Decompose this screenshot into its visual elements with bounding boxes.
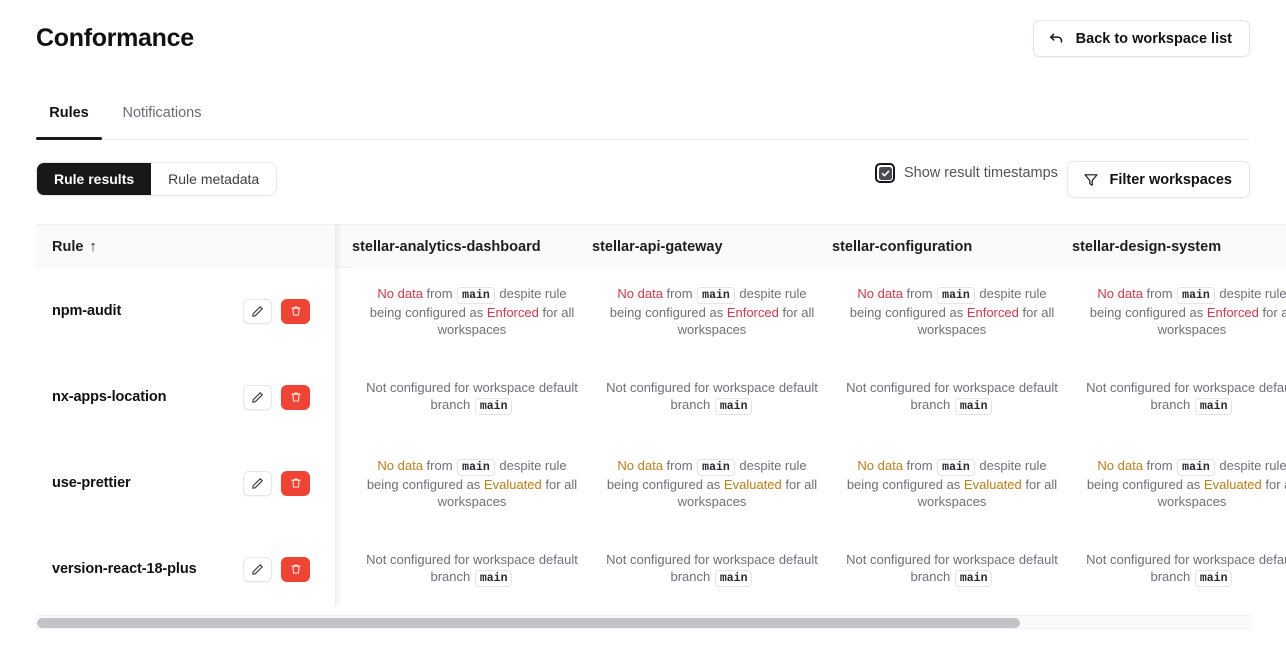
page-title: Conformance	[36, 24, 194, 53]
result-status-segment: Enforced	[487, 305, 539, 320]
branch-code-chip: main	[1195, 570, 1233, 587]
row-actions	[243, 299, 310, 324]
result-text: Not configured for workspace default bra…	[600, 551, 824, 587]
delete-rule-button[interactable]	[281, 471, 310, 496]
result-text-segment: Not configured for workspace default bra…	[606, 380, 818, 412]
pencil-icon	[251, 477, 264, 490]
filter-workspaces-label: Filter workspaces	[1110, 172, 1233, 188]
tab-notifications-label: Notifications	[123, 105, 202, 121]
filter-workspaces-button[interactable]: Filter workspaces	[1067, 161, 1251, 198]
back-button-label: Back to workspace list	[1076, 31, 1232, 47]
result-cell: No data from main despite rule being con…	[1072, 268, 1286, 354]
branch-code-chip: main	[697, 287, 735, 304]
show-result-timestamps-checkbox[interactable]: Show result timestamps	[875, 163, 1058, 183]
branch-code-chip: main	[955, 570, 993, 587]
back-to-workspace-list-button[interactable]: Back to workspace list	[1033, 20, 1250, 57]
result-status-segment: No data	[617, 286, 663, 301]
trash-icon	[290, 477, 302, 489]
trash-icon	[290, 563, 302, 575]
branch-code-chip: main	[1195, 398, 1233, 415]
result-text-segment: from	[423, 458, 456, 473]
sort-ascending-icon: ↑	[89, 239, 96, 255]
segment-rule-metadata-label: Rule metadata	[168, 171, 259, 187]
table-row: version-react-18-plusNot configured for …	[36, 526, 1286, 606]
edit-rule-button[interactable]	[243, 385, 272, 410]
delete-rule-button[interactable]	[281, 299, 310, 324]
conformance-page: Conformance Back to workspace list Rules…	[0, 0, 1286, 667]
result-text-segment: from	[423, 286, 456, 301]
branch-code-chip: main	[475, 570, 513, 587]
column-header-workspace-1[interactable]: stellar-api-gateway	[592, 225, 832, 269]
result-text-segment: Not configured for workspace default bra…	[366, 380, 578, 412]
result-status-segment: Enforced	[727, 305, 779, 320]
segment-rule-results[interactable]: Rule results	[37, 163, 151, 195]
result-status-segment: Evaluated	[724, 477, 782, 492]
result-status-segment: No data	[857, 286, 903, 301]
result-cell: No data from main despite rule being con…	[832, 268, 1072, 354]
rule-name: version-react-18-plus	[52, 561, 197, 577]
view-mode-segmented-control: Rule results Rule metadata	[36, 162, 277, 196]
result-text-segment: from	[663, 458, 696, 473]
result-text: No data from main despite rule being con…	[600, 285, 824, 338]
column-header-workspace-2[interactable]: stellar-configuration	[832, 225, 1072, 269]
column-header-rule-label: Rule	[52, 239, 83, 255]
branch-code-chip: main	[697, 459, 735, 476]
result-text: Not configured for workspace default bra…	[360, 379, 584, 415]
result-status-segment: No data	[377, 458, 423, 473]
tab-rules-label: Rules	[49, 105, 89, 121]
result-text-segment: from	[1143, 286, 1176, 301]
checkmark-icon	[881, 169, 890, 178]
column-header-rule[interactable]: Rule ↑	[36, 225, 335, 269]
tab-notifications[interactable]: Notifications	[110, 104, 214, 140]
edit-rule-button[interactable]	[243, 471, 272, 496]
result-text-segment: Not configured for workspace default bra…	[606, 552, 818, 584]
result-text-segment: Not configured for workspace default bra…	[846, 380, 1058, 412]
result-cell: Not configured for workspace default bra…	[1072, 354, 1286, 440]
result-cell: Not configured for workspace default bra…	[352, 526, 592, 606]
row-actions	[243, 471, 310, 496]
result-status-segment: Evaluated	[484, 477, 542, 492]
result-text-segment: from	[663, 286, 696, 301]
result-text-segment: Not configured for workspace default bra…	[1086, 380, 1286, 412]
result-cell: Not configured for workspace default bra…	[592, 354, 832, 440]
row-actions	[243, 557, 310, 582]
result-cell: No data from main despite rule being con…	[1072, 440, 1286, 526]
result-text: Not configured for workspace default bra…	[1080, 379, 1286, 415]
rule-name: npm-audit	[52, 303, 121, 319]
rule-cell: version-react-18-plus	[36, 526, 335, 606]
result-cell: Not configured for workspace default bra…	[1072, 526, 1286, 606]
result-cell: No data from main despite rule being con…	[352, 440, 592, 526]
branch-code-chip: main	[715, 398, 753, 415]
segment-rule-metadata[interactable]: Rule metadata	[151, 163, 276, 195]
rule-cell: use-prettier	[36, 440, 335, 526]
result-text: Not configured for workspace default bra…	[1080, 551, 1286, 587]
funnel-icon	[1083, 172, 1099, 188]
horizontal-scrollbar[interactable]	[36, 615, 1252, 629]
horizontal-scrollbar-thumb[interactable]	[37, 618, 1020, 628]
result-status-segment: No data	[377, 286, 423, 301]
result-cell: No data from main despite rule being con…	[592, 440, 832, 526]
result-text: Not configured for workspace default bra…	[360, 551, 584, 587]
column-header-workspace-0[interactable]: stellar-analytics-dashboard	[352, 225, 592, 269]
rule-name: nx-apps-location	[52, 389, 166, 405]
trash-icon	[290, 305, 302, 317]
table-toolbar: Rule results Rule metadata Show result t…	[0, 162, 1286, 198]
trash-icon	[290, 391, 302, 403]
tab-bar: Rules Notifications	[0, 104, 1286, 140]
branch-code-chip: main	[457, 459, 495, 476]
branch-code-chip: main	[937, 459, 975, 476]
tab-rules[interactable]: Rules	[36, 104, 102, 140]
result-text: No data from main despite rule being con…	[1080, 285, 1286, 338]
result-text: Not configured for workspace default bra…	[840, 379, 1064, 415]
branch-code-chip: main	[937, 287, 975, 304]
edit-rule-button[interactable]	[243, 299, 272, 324]
branch-code-chip: main	[715, 570, 753, 587]
branch-code-chip: main	[1177, 287, 1215, 304]
result-text-segment: Not configured for workspace default bra…	[366, 552, 578, 584]
result-text-segment: from	[1143, 458, 1176, 473]
checkbox-focus-ring	[875, 163, 895, 183]
result-cell: No data from main despite rule being con…	[592, 268, 832, 354]
rule-cell: nx-apps-location	[36, 354, 335, 440]
result-text-segment: Not configured for workspace default bra…	[846, 552, 1058, 584]
result-text: No data from main despite rule being con…	[1080, 457, 1286, 510]
result-text-segment: from	[903, 458, 936, 473]
result-cell: No data from main despite rule being con…	[352, 268, 592, 354]
pencil-icon	[251, 305, 264, 318]
result-text: Not configured for workspace default bra…	[600, 379, 824, 415]
table-row: use-prettierNo data from main despite ru…	[36, 440, 1286, 526]
result-cell: Not configured for workspace default bra…	[352, 354, 592, 440]
result-status-segment: No data	[1097, 286, 1143, 301]
row-actions	[243, 385, 310, 410]
rule-cell: npm-audit	[36, 268, 335, 354]
back-arrow-icon	[1048, 30, 1065, 47]
show-result-timestamps-label: Show result timestamps	[904, 165, 1058, 181]
result-text: No data from main despite rule being con…	[360, 285, 584, 338]
column-header-workspace-3[interactable]: stellar-design-system	[1072, 225, 1286, 269]
pencil-icon	[251, 391, 264, 404]
result-text: No data from main despite rule being con…	[840, 285, 1064, 338]
sticky-column-shadow	[336, 224, 342, 606]
result-status-segment: Evaluated	[964, 477, 1022, 492]
table-row: nx-apps-locationNot configured for works…	[36, 354, 1286, 440]
rule-name: use-prettier	[52, 475, 131, 491]
branch-code-chip: main	[955, 398, 993, 415]
result-text-segment: Not configured for workspace default bra…	[1086, 552, 1286, 584]
result-cell: Not configured for workspace default bra…	[832, 354, 1072, 440]
branch-code-chip: main	[1177, 459, 1215, 476]
result-cell: No data from main despite rule being con…	[832, 440, 1072, 526]
rules-results-table: Rule ↑ stellar-analytics-dashboard stell…	[36, 224, 1286, 606]
result-status-segment: No data	[1097, 458, 1143, 473]
checkbox-box	[879, 167, 892, 180]
pencil-icon	[251, 563, 264, 576]
result-cell: Not configured for workspace default bra…	[832, 526, 1072, 606]
result-cell: Not configured for workspace default bra…	[592, 526, 832, 606]
result-status-segment: No data	[617, 458, 663, 473]
result-text: No data from main despite rule being con…	[840, 457, 1064, 510]
edit-rule-button[interactable]	[243, 557, 272, 582]
delete-rule-button[interactable]	[281, 557, 310, 582]
tab-bar-divider	[36, 139, 1250, 140]
result-text: No data from main despite rule being con…	[360, 457, 584, 510]
result-text: Not configured for workspace default bra…	[840, 551, 1064, 587]
result-text-segment: from	[903, 286, 936, 301]
table-header-row: Rule ↑ stellar-analytics-dashboard stell…	[36, 224, 1286, 268]
result-status-segment: Enforced	[1207, 305, 1259, 320]
branch-code-chip: main	[475, 398, 513, 415]
table-row: npm-auditNo data from main despite rule …	[36, 268, 1286, 354]
result-status-segment: Enforced	[967, 305, 1019, 320]
delete-rule-button[interactable]	[281, 385, 310, 410]
result-status-segment: Evaluated	[1204, 477, 1262, 492]
branch-code-chip: main	[457, 287, 495, 304]
page-header: Conformance Back to workspace list	[0, 0, 1286, 90]
result-status-segment: No data	[857, 458, 903, 473]
segment-rule-results-label: Rule results	[54, 171, 134, 187]
result-text: No data from main despite rule being con…	[600, 457, 824, 510]
